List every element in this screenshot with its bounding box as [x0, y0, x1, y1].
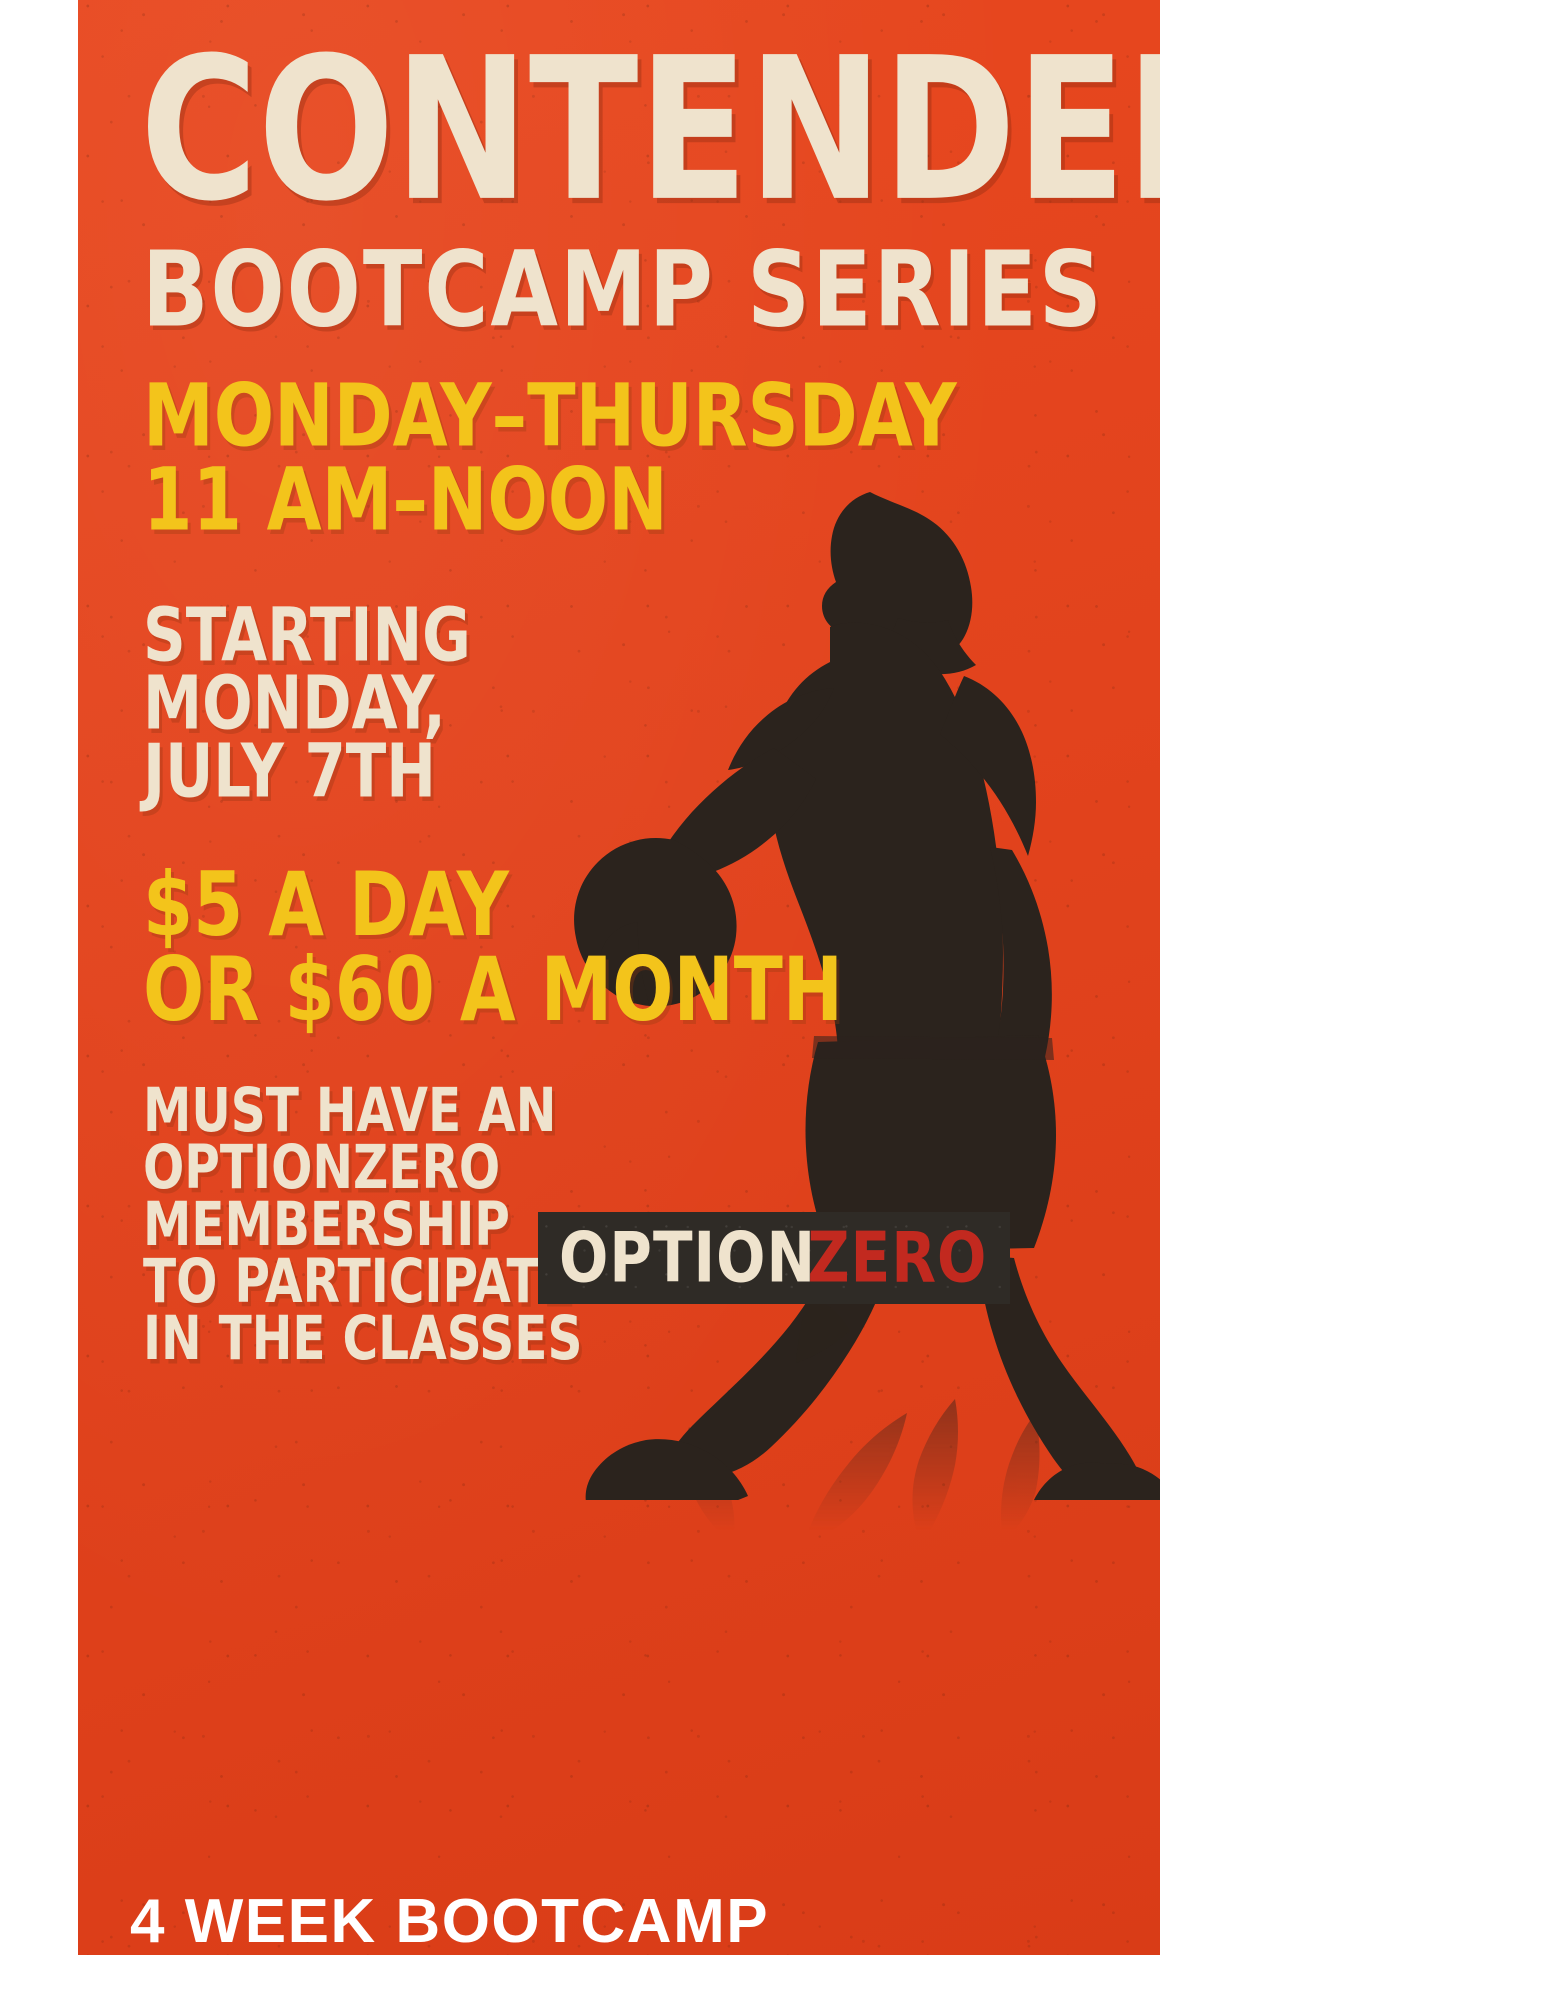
optionzero-logo: OPTIONZERO	[538, 1212, 1010, 1304]
footer-label: 4 WEEK BOOTCAMP	[130, 1886, 769, 1957]
price-per-month: OR $60 A MONTH	[143, 943, 843, 1037]
logo-text-option: OPTION	[559, 1223, 816, 1292]
price-per-day: $5 A DAY	[143, 858, 843, 952]
requirement-line-5: IN THE CLASSES	[143, 1307, 582, 1371]
schedule-days: MONDAY–THURSDAY	[143, 370, 957, 462]
start-date-line-3: JULY 7TH	[143, 734, 471, 810]
pricing-block: $5 A DAY OR $60 A MONTH	[143, 862, 843, 1032]
page-subtitle: BOOTCAMP SERIES	[142, 236, 1104, 344]
page-title: CONTENDER	[140, 37, 1160, 224]
schedule-time: 11 AM–NOON	[143, 454, 957, 546]
poster-sheet: CONTENDER BOOTCAMP SERIES	[78, 0, 1160, 1955]
logo-text-zero: ZERO	[808, 1223, 988, 1292]
schedule-block: MONDAY–THURSDAY 11 AM–NOON	[143, 374, 957, 542]
membership-requirement-block: MUST HAVE AN OPTIONZERO MEMBERSHIP TO PA…	[143, 1082, 582, 1367]
start-date-block: STARTING MONDAY, JULY 7TH	[143, 602, 471, 806]
poster-canvas: CONTENDER BOOTCAMP SERIES	[0, 0, 1545, 2000]
footer-bar: 4 WEEK BOOTCAMP	[0, 1872, 1545, 2000]
